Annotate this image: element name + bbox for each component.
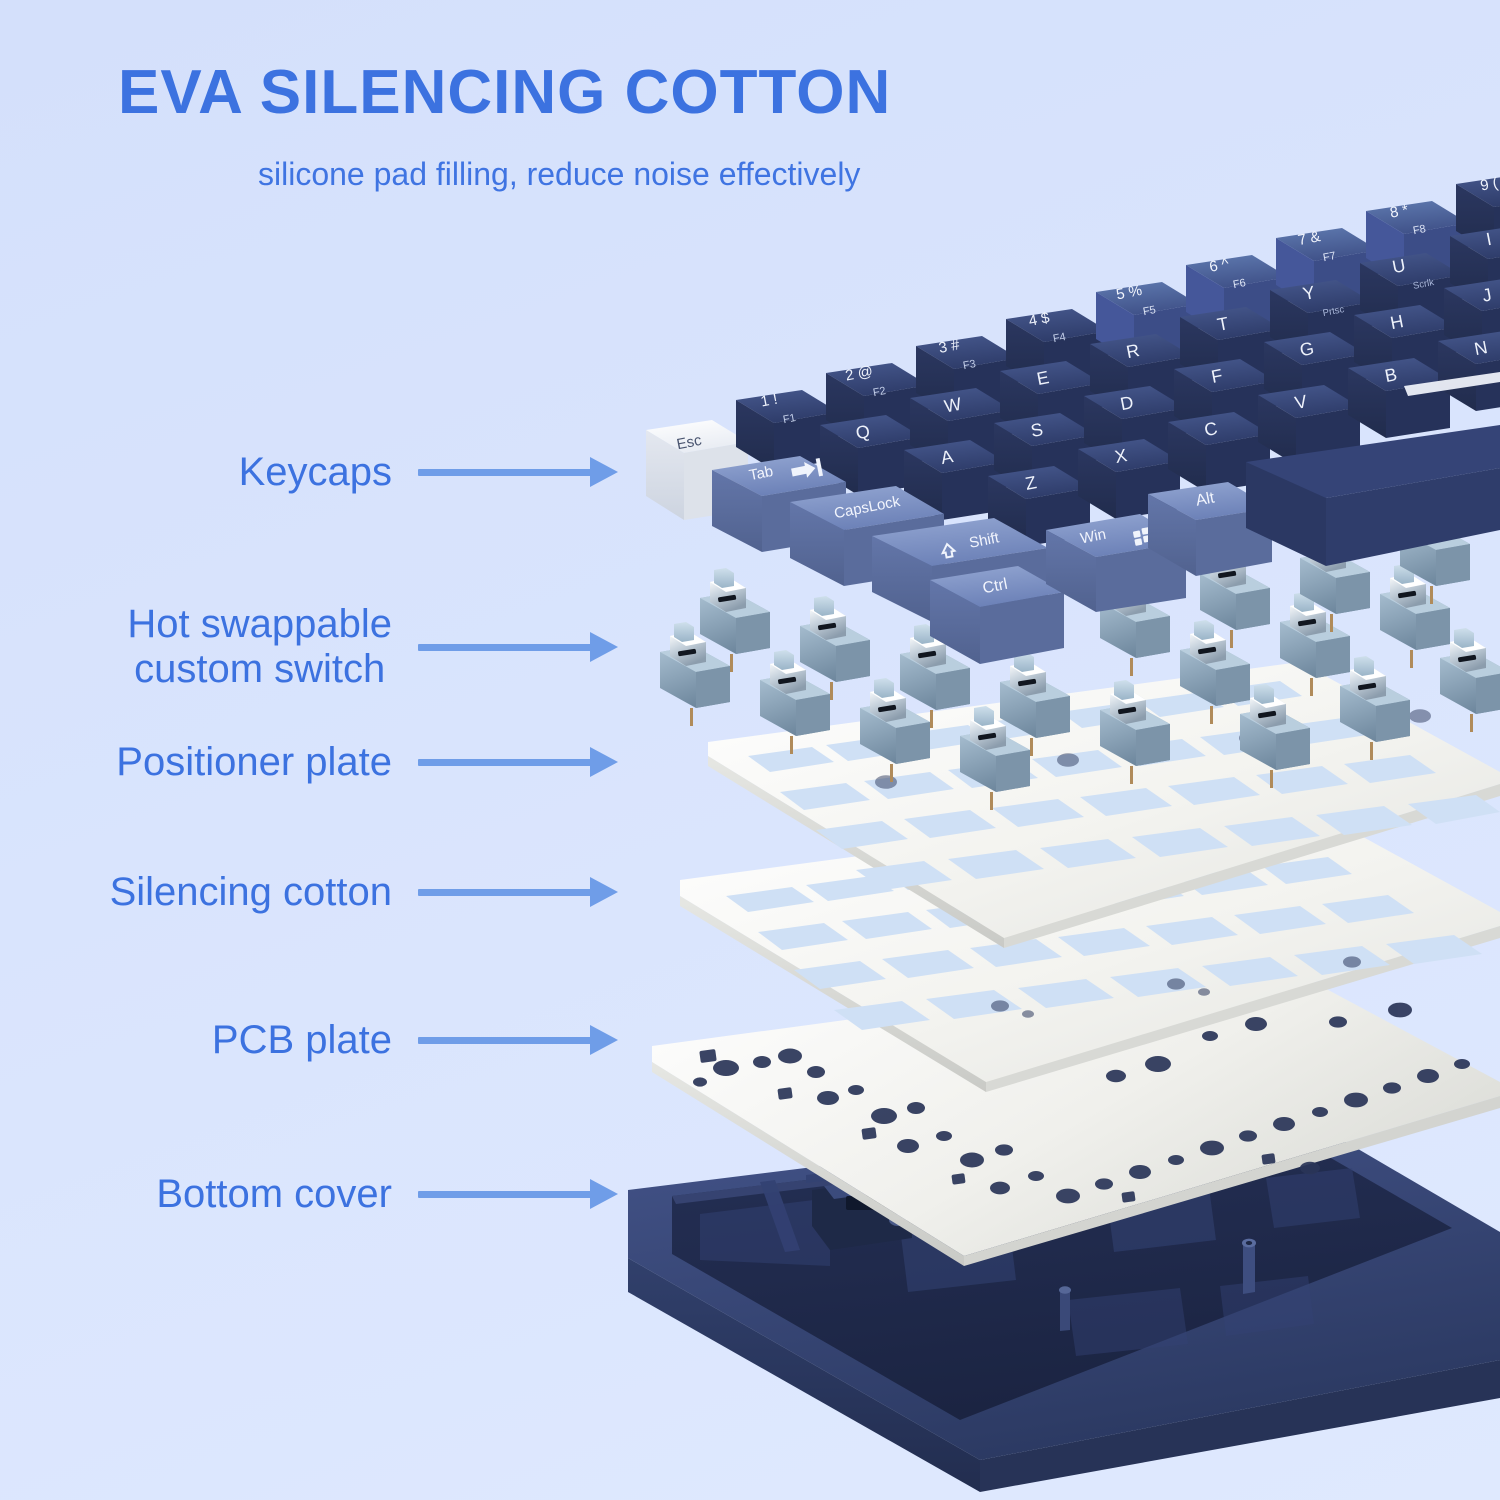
svg-text:1 !: 1 ! — [759, 391, 779, 411]
callout-hot-swappable-switch: Hot swappable custom switch — [28, 602, 618, 692]
infographic-canvas: Esc 1 ! F1 2 @ — [0, 0, 1500, 1500]
callout-arrow-silencing-cotton — [418, 885, 618, 899]
callout-silencing-cotton: Silencing cotton — [28, 870, 618, 915]
callout-arrow-pcb-plate — [418, 1033, 618, 1047]
svg-text:F8: F8 — [1412, 223, 1427, 237]
svg-text:9 (: 9 ( — [1479, 175, 1499, 195]
page-title: EVA SILENCING COTTON — [118, 62, 891, 124]
callout-keycaps: Keycaps — [118, 450, 618, 495]
callout-arrow-keycaps — [418, 465, 618, 479]
svg-text:F4: F4 — [1052, 331, 1067, 345]
callout-bottom-cover: Bottom cover — [28, 1172, 618, 1217]
svg-text:8 *: 8 * — [1389, 201, 1410, 221]
svg-text:Alt: Alt — [1194, 489, 1216, 509]
callout-positioner-plate: Positioner plate — [28, 740, 618, 785]
callout-label-positioner-plate: Positioner plate — [116, 740, 392, 785]
callout-label-hot-swappable-switch: Hot swappable custom switch — [127, 602, 392, 692]
svg-text:F2: F2 — [872, 385, 887, 399]
callout-label-pcb-plate: PCB plate — [212, 1018, 392, 1063]
svg-text:F3: F3 — [962, 358, 977, 372]
callout-arrow-bottom-cover — [418, 1187, 618, 1201]
svg-text:F1: F1 — [782, 412, 797, 426]
callout-label-bottom-cover: Bottom cover — [156, 1172, 392, 1217]
callout-label-keycaps: Keycaps — [239, 450, 392, 495]
callout-pcb-plate: PCB plate — [28, 1018, 618, 1063]
svg-text:F5: F5 — [1142, 304, 1157, 318]
page-subtitle: silicone pad filling, reduce noise effec… — [258, 158, 860, 190]
keycaps-layer: Esc 1 ! F1 2 @ — [646, 120, 1500, 672]
callout-arrow-hot-swappable-switch — [418, 640, 618, 654]
svg-text:F7: F7 — [1322, 250, 1337, 264]
keycap-ctrl: Ctrl — [930, 566, 1064, 664]
callout-label-silencing-cotton: Silencing cotton — [110, 870, 392, 915]
svg-text:F6: F6 — [1232, 277, 1247, 291]
callout-arrow-positioner-plate — [418, 755, 618, 769]
